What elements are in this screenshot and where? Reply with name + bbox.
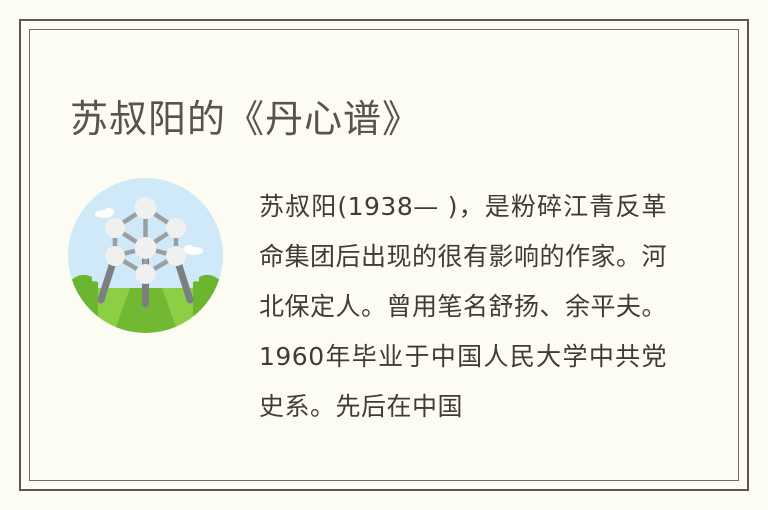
article-body-text: 苏叔阳(1938— )，是粉碎江青反革命集团后出现的很有影响的作家。河北保定人。…: [259, 182, 667, 432]
article-content: 苏叔阳(1938— )，是粉碎江青反革命集团后出现的很有影响的作家。河北保定人。…: [68, 158, 714, 460]
page-title: 苏叔阳的《丹心谱》: [70, 99, 421, 143]
atomium-illustration: [68, 178, 223, 333]
atomium-icon: [68, 178, 223, 333]
article-card-inner-border: 苏叔阳的《丹心谱》: [29, 29, 739, 481]
article-card: 苏叔阳的《丹心谱》: [19, 19, 749, 491]
